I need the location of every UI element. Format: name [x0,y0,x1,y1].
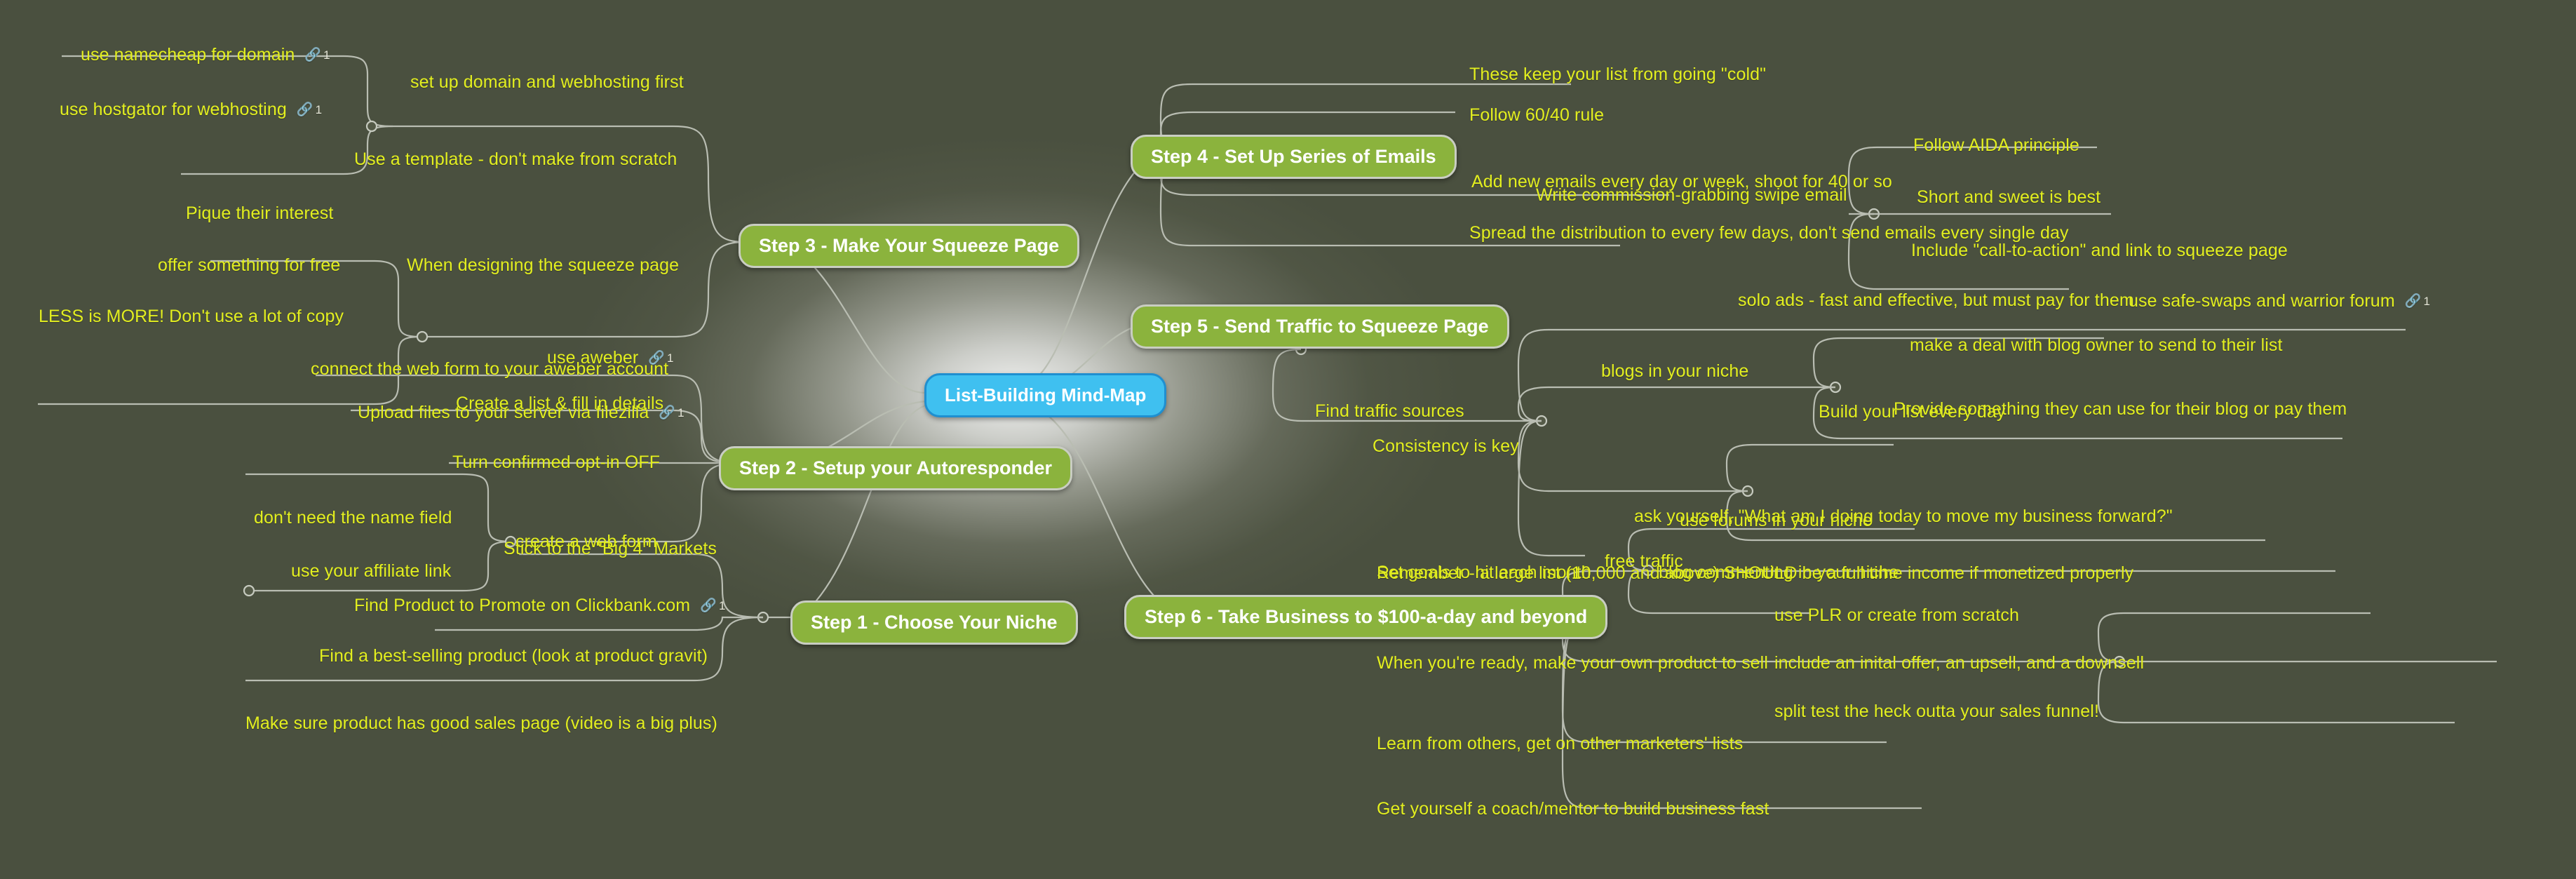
label-use-template[interactable]: Use a template - don't make from scratch [354,149,677,169]
link-icon[interactable]: 🔗1 [304,46,330,65]
label-find-product[interactable]: Find Product to Promote on Clickbank.com… [354,596,726,616]
label-solo-ads[interactable]: solo ads - fast and effective, but must … [1738,290,2134,310]
label-good-sales-page[interactable]: Make sure product has good sales page (v… [245,713,717,733]
label-text: Find Product to Promote on Clickbank.com [354,596,690,615]
link-icon[interactable]: 🔗1 [297,100,322,120]
label-remember-large-list[interactable]: Remember - a large list (10,000 and abov… [1377,563,2133,583]
label-short-sweet[interactable]: Short and sweet is best [1917,187,2100,207]
label-include-offer[interactable]: include an inital offer, an upsell, and … [1774,653,2144,673]
link-count: 1 [323,48,330,62]
label-consistency[interactable]: Consistency is key [1373,436,1519,456]
label-build-list-every-day[interactable]: Build your list every day [1819,402,2006,422]
label-use-affiliate-link[interactable]: use your affiliate link [291,561,451,581]
link-count: 1 [2424,295,2431,308]
link-icon[interactable]: 🔗1 [659,403,684,423]
label-turn-opt-in-off[interactable]: Turn confirmed opt-in OFF [452,452,660,472]
label-blogs-niche[interactable]: blogs in your niche [1601,361,1748,381]
branch-node-step2[interactable]: Step 2 - Setup your Autoresponder [719,446,1072,490]
label-spread-distribution[interactable]: Spread the distribution to every few day… [1469,223,2069,243]
label-text: use safe-swaps and warrior forum [2129,291,2395,311]
label-learn-others[interactable]: Learn from others, get on other marketer… [1377,734,1743,753]
label-less-is-more[interactable]: LESS is MORE! Don't use a lot of copy [39,307,344,326]
label-dont-need-name[interactable]: don't need the name field [254,508,452,528]
label-get-coach[interactable]: Get yourself a coach/mentor to build bus… [1377,799,1769,819]
link-count: 1 [677,406,685,420]
label-split-test[interactable]: split test the heck outta your sales fun… [1774,702,2099,721]
label-include-cta[interactable]: Include "call-to-action" and link to squ… [1911,241,2288,260]
label-connect-web-form[interactable]: connect the web form to your aweber acco… [311,359,668,379]
link-icon[interactable]: 🔗1 [700,596,725,616]
label-make-deal[interactable]: make a deal with blog owner to send to t… [1910,335,2283,355]
label-keep-cold[interactable]: These keep your list from going "cold" [1469,65,1766,84]
link-icon[interactable]: 🔗1 [2405,292,2430,311]
branch-node-step1[interactable]: Step 1 - Choose Your Niche [790,600,1078,645]
label-use-namecheap[interactable]: use namecheap for domain🔗1 [81,45,330,65]
label-write-swipe[interactable]: Write commission-grabbing swipe email [1536,185,1847,205]
label-setup-domain[interactable]: set up domain and webhosting first [410,72,684,92]
label-follow-6040[interactable]: Follow 60/40 rule [1469,105,1604,125]
branch-node-step6[interactable]: Step 6 - Take Business to $100-a-day and… [1124,595,1607,639]
label-use-plr[interactable]: use PLR or create from scratch [1774,605,2019,625]
center-glow [0,0,2576,879]
link-count: 1 [316,103,323,116]
root-node[interactable]: List-Building Mind-Map [924,373,1166,417]
label-when-designing[interactable]: When designing the squeeze page [407,255,679,275]
label-use-forums[interactable]: use forums in your niche [1680,511,1873,530]
label-text: use hostgator for webhosting [60,100,287,119]
branch-node-step5[interactable]: Step 5 - Send Traffic to Squeeze Page [1131,304,1509,349]
label-safe-swaps[interactable]: use safe-swaps and warrior forum🔗1 [2129,291,2430,311]
branch-node-step4[interactable]: Step 4 - Set Up Series of Emails [1131,135,1457,179]
label-find-traffic[interactable]: Find traffic sources [1315,401,1464,421]
label-upload-files[interactable]: Upload files to your server via filezill… [358,403,685,423]
label-follow-aida[interactable]: Follow AIDA principle [1913,135,2079,155]
link-count: 1 [719,599,726,612]
label-offer-free[interactable]: offer something for free [158,255,340,275]
label-make-own-product[interactable]: When you're ready, make your own product… [1377,653,1768,673]
label-text: use namecheap for domain [81,45,295,65]
connector-wires [0,0,2576,879]
label-use-hostgator[interactable]: use hostgator for webhosting🔗1 [60,100,322,120]
label-pique-interest[interactable]: Pique their interest [186,203,333,223]
label-stick-big4[interactable]: Stick to the "Big 4" Markets [504,539,717,558]
branch-node-step3[interactable]: Step 3 - Make Your Squeeze Page [739,224,1079,268]
label-find-best-selling[interactable]: Find a best-selling product (look at pro… [319,646,708,666]
label-text: Upload files to your server via filezill… [358,403,649,422]
